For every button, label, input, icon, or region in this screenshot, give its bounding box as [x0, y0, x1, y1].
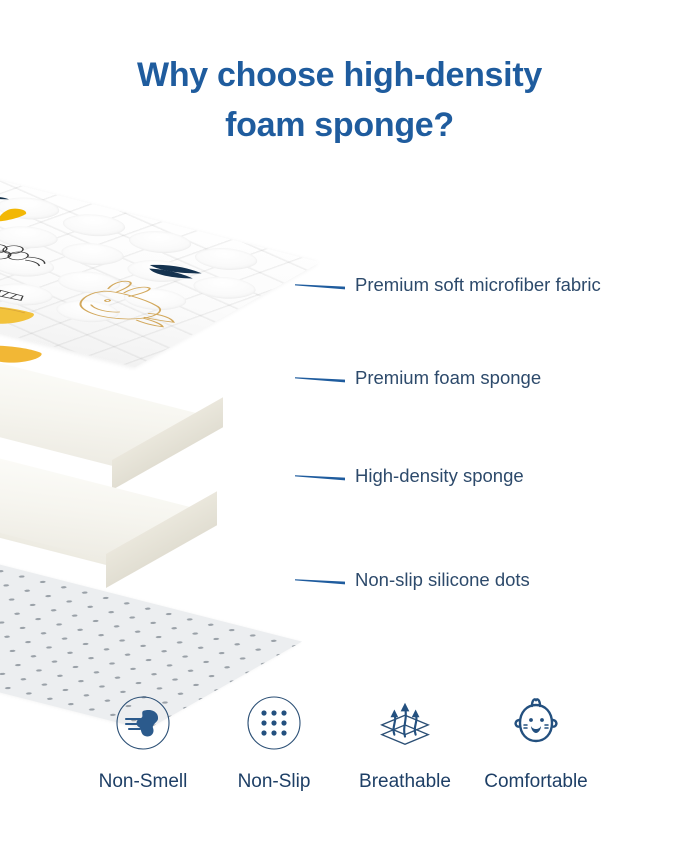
exploded-mattress-diagram	[0, 140, 360, 700]
callout-non-slip-silicone-dots: Non-slip silicone dots	[295, 567, 530, 593]
feature-label: Non-Slip	[238, 770, 311, 794]
leader-line-icon	[295, 373, 345, 383]
odor-free-icon	[114, 694, 172, 752]
callout-microfiber-fabric: Premium soft microfiber fabric	[295, 272, 601, 298]
layer-premium-foam-sponge	[0, 338, 202, 372]
feature-breathable: Breathable	[340, 694, 471, 794]
callout-premium-foam-sponge: Premium foam sponge	[295, 365, 541, 391]
feature-label: Comfortable	[484, 770, 588, 794]
feature-label: Breathable	[359, 770, 451, 794]
callout-high-density-sponge: High-density sponge	[295, 463, 524, 489]
feature-non-slip: Non-Slip	[209, 694, 340, 794]
feature-comfortable: Comfortable	[471, 694, 602, 794]
feature-non-smell: Non-Smell	[78, 694, 209, 794]
baby-face-icon	[507, 694, 565, 752]
breathable-layers-icon	[376, 694, 434, 752]
layer-high-density-sponge	[0, 432, 196, 466]
leader-line-icon	[295, 471, 345, 481]
callout-label: Premium foam sponge	[355, 365, 541, 391]
callout-label: Premium soft microfiber fabric	[355, 272, 601, 298]
feature-list: Non-Smell Non-Slip	[0, 694, 679, 794]
feature-label: Non-Smell	[99, 770, 188, 794]
callout-label: Non-slip silicone dots	[355, 567, 530, 593]
leader-line-icon	[295, 280, 345, 290]
dot-grid-icon	[245, 694, 303, 752]
callout-label: High-density sponge	[355, 463, 524, 489]
page-title: Why choose high-density foam sponge?	[0, 50, 679, 150]
leader-line-icon	[295, 575, 345, 585]
layer-microfiber-fabric	[0, 150, 320, 367]
